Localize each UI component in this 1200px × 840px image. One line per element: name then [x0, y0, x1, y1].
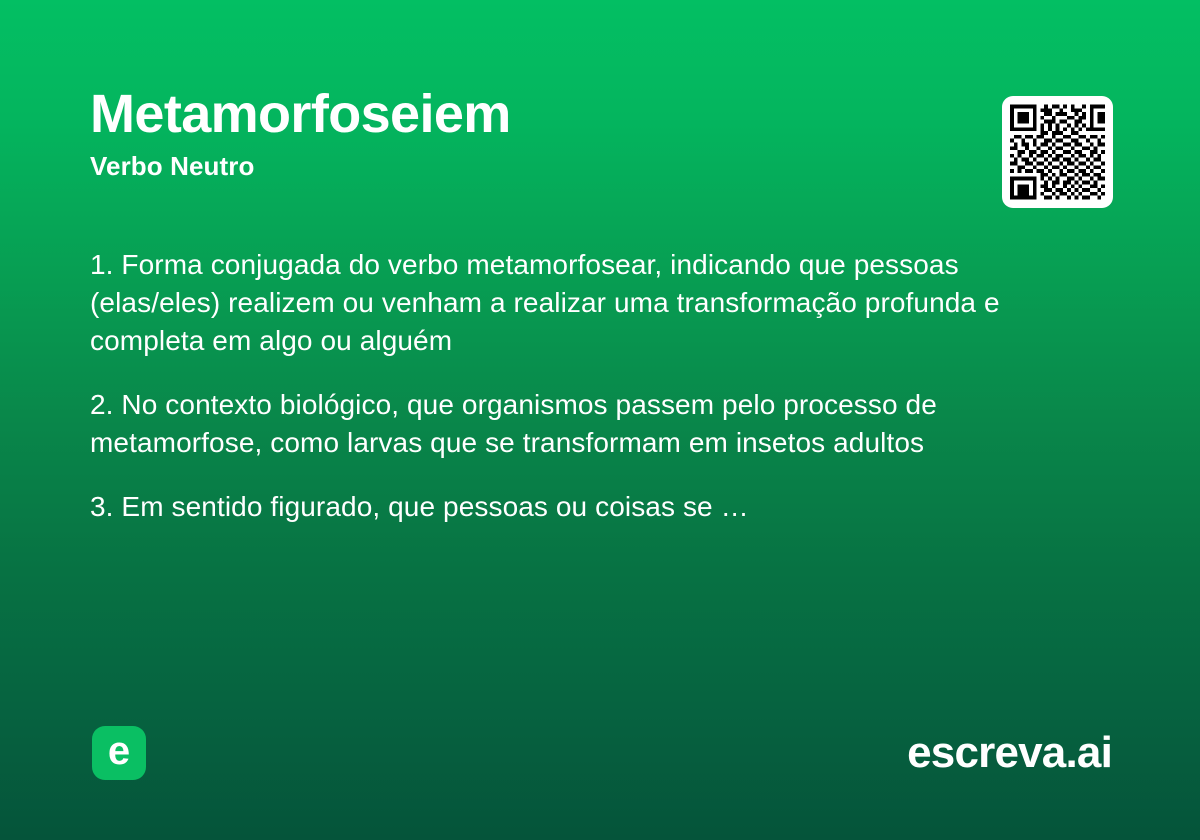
escreva-logo-letter: e [108, 731, 130, 771]
dictionary-card: Metamorfoseiem Verbo Neutro 1. Forma con… [0, 0, 1200, 840]
escreva-logo-badge[interactable]: e [92, 726, 146, 780]
definition-item: 2. No contexto biológico, que organismos… [90, 386, 1096, 462]
page-title: Metamorfoseiem [90, 84, 1112, 144]
word-class-label: Verbo Neutro [90, 150, 1112, 182]
qr-code-card[interactable] [1002, 96, 1113, 208]
definition-item: 3. Em sentido figurado, que pessoas ou c… [90, 488, 1096, 526]
definition-list: 1. Forma conjugada do verbo metamorfosea… [90, 246, 1096, 526]
brand-wordmark: escreva.ai [907, 726, 1112, 780]
card-header: Metamorfoseiem Verbo Neutro [90, 84, 1112, 182]
qr-code-icon [1010, 104, 1105, 200]
definition-item: 1. Forma conjugada do verbo metamorfosea… [90, 246, 1096, 360]
